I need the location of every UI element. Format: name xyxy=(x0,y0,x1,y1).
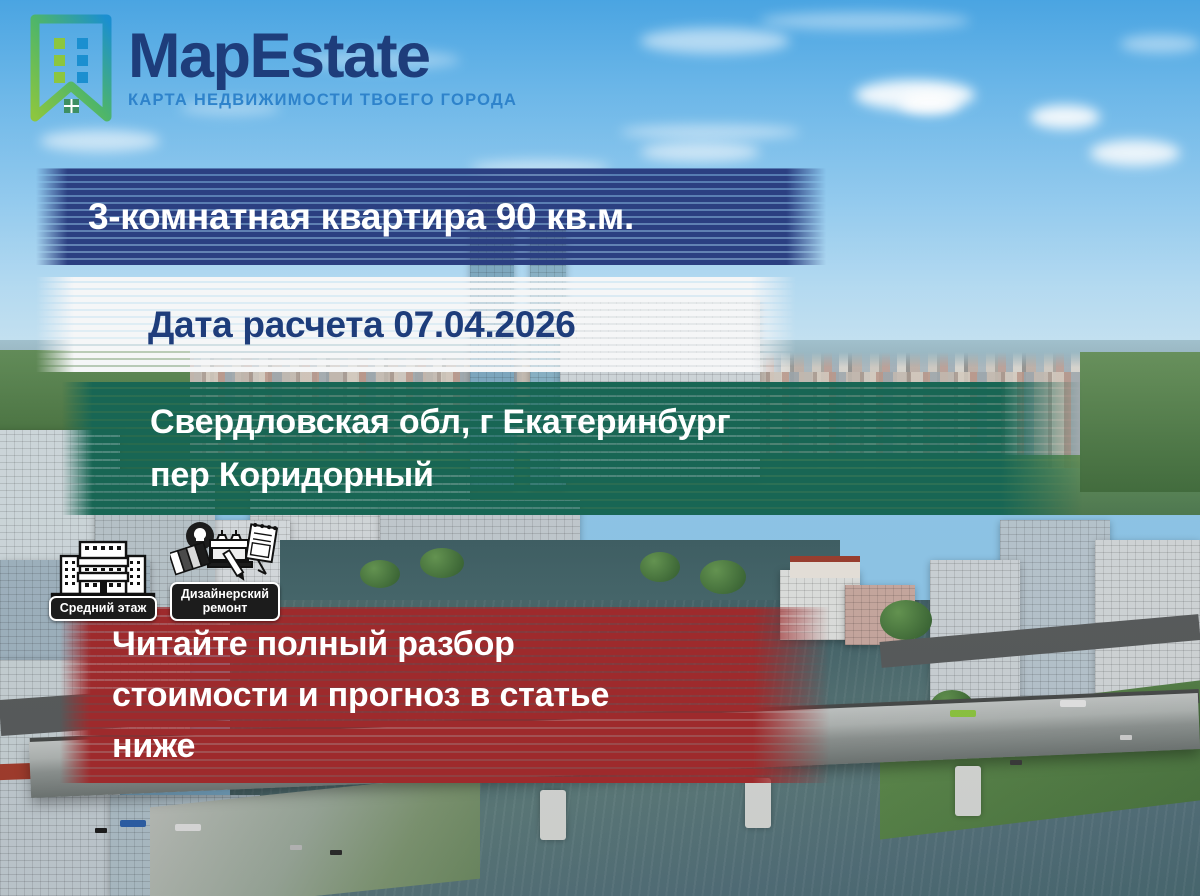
badge-middle-floor[interactable]: Средний этаж xyxy=(48,534,158,620)
address-banner: Свердловская обл, г Екатеринбург пер Кор… xyxy=(62,382,1082,515)
badge-middle-floor-label: Средний этаж xyxy=(49,596,158,620)
date-banner-text: Дата расчета 07.04.2026 xyxy=(36,304,576,346)
car xyxy=(290,845,302,850)
bus xyxy=(175,824,201,831)
church-building xyxy=(790,556,860,578)
tree xyxy=(640,552,680,582)
car xyxy=(95,828,107,833)
cloud xyxy=(1030,105,1100,129)
date-banner: Дата расчета 07.04.2026 xyxy=(36,277,796,372)
cta-banner: Читайте полный разбор стоимости и прогно… xyxy=(60,607,830,783)
bus xyxy=(1060,700,1086,707)
brand-logo[interactable]: MapEstate КАРТА НЕДВИЖИМОСТИ ТВОЕГО ГОРО… xyxy=(28,14,517,122)
cloud xyxy=(1090,140,1180,166)
address-banner-text: Свердловская обл, г Екатеринбург пер Кор… xyxy=(62,396,730,501)
brand-text: MapEstate КАРТА НЕДВИЖИМОСТИ ТВОЕГО ГОРО… xyxy=(128,26,517,110)
interior-design-icon xyxy=(170,520,280,586)
car xyxy=(330,850,342,855)
property-banner-text: 3-комнатная квартира 90 кв.м. xyxy=(36,196,634,238)
bridge-pier xyxy=(955,766,981,816)
cloud xyxy=(640,28,790,54)
tree xyxy=(360,560,400,588)
forest-right xyxy=(1080,352,1200,492)
tree xyxy=(880,600,932,640)
car xyxy=(1120,735,1132,740)
tree xyxy=(420,548,464,578)
brand-tagline: КАРТА НЕДВИЖИМОСТИ ТВОЕГО ГОРОДА xyxy=(128,91,517,110)
cloud xyxy=(1120,35,1200,53)
bridge-pier xyxy=(745,778,771,828)
cloud xyxy=(620,125,800,139)
cta-banner-text: Читайте полный разбор стоимости и прогно… xyxy=(60,619,609,772)
property-banner: 3-комнатная квартира 90 кв.м. xyxy=(36,168,826,265)
bridge-pier xyxy=(540,790,566,840)
badge-designer-renovation-label: Дизайнерский ремонт xyxy=(170,582,280,621)
tree xyxy=(700,560,746,594)
cloud xyxy=(760,12,970,30)
brand-title: MapEstate xyxy=(128,26,517,86)
apartment-building-icon xyxy=(48,534,158,600)
bookmark-building-icon xyxy=(28,14,114,122)
cloud xyxy=(640,142,760,162)
feature-badges: Средний этаж xyxy=(48,520,280,621)
cloud xyxy=(900,92,960,114)
bus xyxy=(950,710,976,717)
car xyxy=(1010,760,1022,765)
badge-designer-renovation[interactable]: Дизайнерский ремонт xyxy=(170,520,280,621)
embankment xyxy=(150,773,480,896)
bus xyxy=(120,820,146,827)
cloud xyxy=(40,130,160,152)
